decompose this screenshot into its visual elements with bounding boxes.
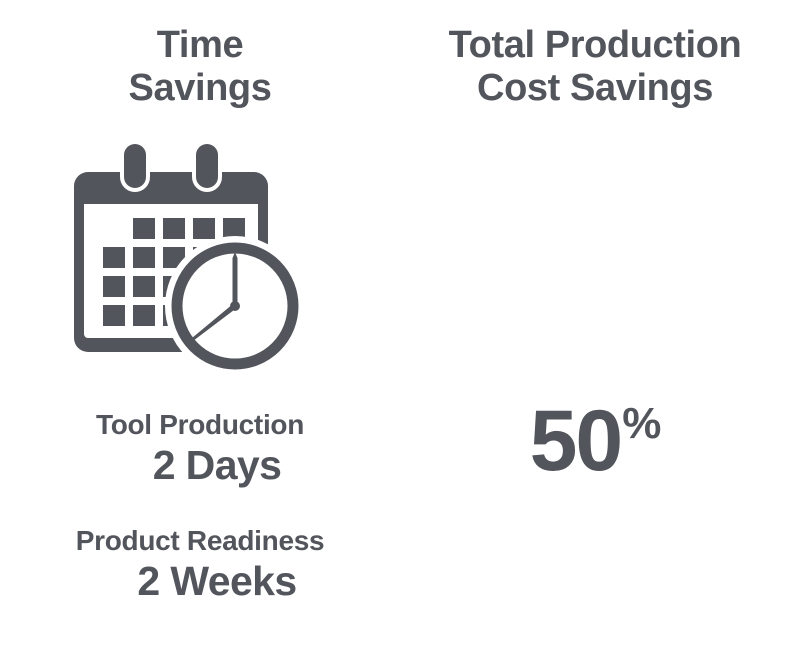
clock-center-pin [230, 301, 240, 311]
calendar-ring-right [192, 142, 222, 192]
cost-savings-unit: % [622, 402, 661, 446]
cost-savings-heading-line-2: Cost Savings [400, 67, 790, 110]
metric-tool-production-label: Tool Production [0, 408, 400, 441]
infographic-root: Time Savings [0, 0, 790, 661]
metric-tool-production: Tool Production 2 Days [0, 408, 400, 489]
metric-product-readiness-label: Product Readiness [0, 524, 400, 557]
metric-tool-production-value: 2 Days [0, 441, 400, 489]
metric-product-readiness: Product Readiness 2 Weeks [0, 524, 400, 605]
panel-cost-savings: Total Production Cost Savings [400, 0, 790, 661]
calendar-clock-icon [74, 142, 316, 370]
metric-cost-savings: 50% [400, 398, 790, 484]
time-savings-heading: Time Savings [0, 24, 400, 109]
cost-savings-number: 50 [530, 398, 622, 484]
clock-minute-hand [233, 252, 238, 307]
time-savings-heading-line-1: Time [0, 24, 400, 67]
time-savings-heading-line-2: Savings [0, 67, 400, 110]
metric-product-readiness-value: 2 Weeks [0, 557, 400, 605]
cost-savings-heading: Total Production Cost Savings [400, 24, 790, 109]
calendar-ring-left [120, 142, 150, 192]
cost-savings-heading-line-1: Total Production [400, 24, 790, 67]
panel-time-savings: Time Savings [0, 0, 400, 661]
